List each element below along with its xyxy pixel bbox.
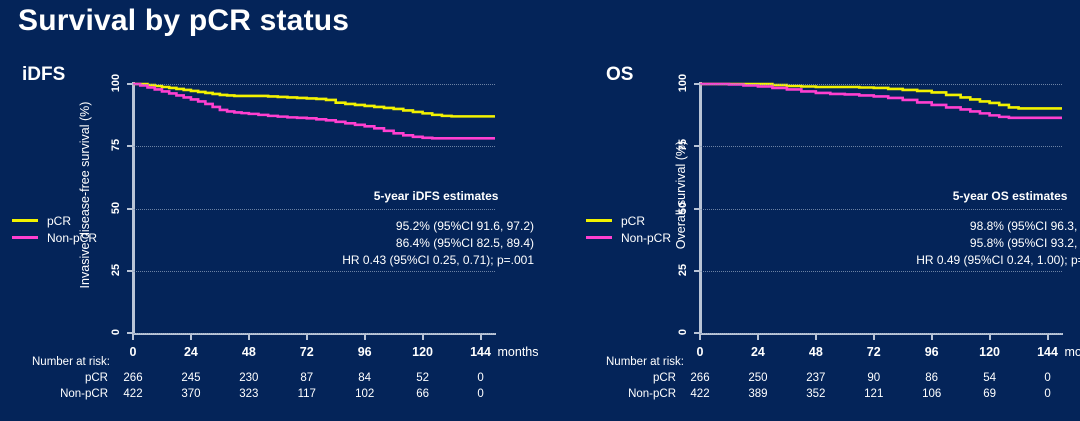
legend-item-pcr: pCR	[12, 212, 97, 229]
risk-row-value: 121	[854, 388, 894, 400]
x-tick-label: 144	[459, 345, 503, 359]
x-tick-mark	[364, 334, 366, 340]
risk-row-label: Non-pCR	[588, 388, 676, 400]
gridline	[133, 84, 495, 85]
risk-row-value: 266	[680, 372, 720, 384]
x-tick-label: 0	[678, 345, 722, 359]
y-tick-label: 0	[677, 322, 689, 342]
gridline	[700, 333, 1062, 334]
legend-swatch-nonpcr	[586, 236, 612, 240]
legend-idfs: pCR Non-pCR	[12, 212, 97, 246]
legend-os: pCR Non-pCR	[586, 212, 671, 246]
estimates-heading: 5-year iDFS estimates	[342, 188, 534, 205]
y-tick-mark	[127, 270, 133, 272]
risk-row-value: 0	[1028, 388, 1068, 400]
x-tick-label: 24	[736, 345, 780, 359]
x-tick-mark	[132, 334, 134, 340]
risk-row-value: 389	[738, 388, 778, 400]
legend-item-pcr: pCR	[586, 212, 671, 229]
x-tick-mark	[248, 334, 250, 340]
gridline	[133, 146, 495, 147]
risk-row-value: 0	[461, 388, 501, 400]
x-tick-mark	[815, 334, 817, 340]
y-axis-title-idfs: Invasive disease-free survival (%)	[78, 80, 92, 310]
risk-row-value: 106	[912, 388, 952, 400]
risk-row-value: 0	[461, 372, 501, 384]
legend-item-nonpcr: Non-pCR	[586, 229, 671, 246]
risk-row-value: 52	[403, 372, 443, 384]
estimates-block-os: 5-year OS estimates 98.8% (95%CI 96.3, 9…	[916, 188, 1080, 269]
y-tick-mark	[127, 83, 133, 85]
risk-table-row: pCR2662502379086540	[574, 372, 1080, 388]
risk-table-row: Non-pCR422370323117102660	[0, 388, 540, 404]
slide-root: { "title": "Survival by pCR status", "th…	[0, 0, 1080, 421]
risk-row-value: 245	[171, 372, 211, 384]
x-tick-mark	[931, 334, 933, 340]
risk-row-value: 352	[796, 388, 836, 400]
y-tick-mark	[127, 145, 133, 147]
risk-row-value: 230	[229, 372, 269, 384]
x-tick-label: 72	[852, 345, 896, 359]
x-tick-label: 120	[401, 345, 445, 359]
y-tick-label: 25	[677, 260, 689, 280]
legend-label-pcr: pCR	[621, 214, 645, 228]
estimate-pcr: 98.8% (95%CI 96.3, 99.6)	[916, 218, 1080, 235]
x-tick-mark	[422, 334, 424, 340]
y-tick-mark	[694, 270, 700, 272]
legend-label-nonpcr: Non-pCR	[47, 231, 97, 245]
legend-item-nonpcr: Non-pCR	[12, 229, 97, 246]
estimate-nonpcr: 86.4% (95%CI 82.5, 89.4)	[342, 235, 534, 252]
x-tick-mark	[190, 334, 192, 340]
hazard-ratio: HR 0.43 (95%CI 0.25, 0.71); p=.001	[342, 252, 534, 269]
x-tick-label: 48	[794, 345, 838, 359]
risk-row-value: 323	[229, 388, 269, 400]
risk-row-value: 90	[854, 372, 894, 384]
risk-row-value: 117	[287, 388, 327, 400]
x-tick-label: 144	[1026, 345, 1070, 359]
estimates-heading: 5-year OS estimates	[916, 188, 1080, 205]
panel-label-idfs: iDFS	[22, 64, 65, 86]
chart-panel-os: OS Overall survival (%) 0255075100024487…	[574, 60, 1080, 421]
survival-curve-pcr	[133, 84, 495, 116]
legend-swatch-nonpcr	[12, 236, 38, 240]
risk-row-value: 102	[345, 388, 385, 400]
y-tick-mark	[694, 83, 700, 85]
x-tick-label: 24	[169, 345, 213, 359]
x-tick-mark	[1047, 334, 1049, 340]
legend-label-nonpcr: Non-pCR	[621, 231, 671, 245]
risk-row-value: 86	[912, 372, 952, 384]
gridline	[700, 271, 1062, 272]
estimates-block-idfs: 5-year iDFS estimates 95.2% (95%CI 91.6,…	[342, 188, 534, 269]
risk-row-value: 370	[171, 388, 211, 400]
risk-row-value: 250	[738, 372, 778, 384]
risk-row-value: 84	[345, 372, 385, 384]
risk-row-value: 66	[403, 388, 443, 400]
risk-row-value: 237	[796, 372, 836, 384]
x-tick-label: 48	[227, 345, 271, 359]
risk-row-value: 54	[970, 372, 1010, 384]
risk-row-value: 0	[1028, 372, 1068, 384]
y-tick-label: 75	[677, 135, 689, 155]
y-tick-label: 50	[677, 198, 689, 218]
y-tick-label: 100	[677, 73, 689, 93]
y-tick-mark	[694, 145, 700, 147]
x-axis-unit-label: months	[498, 345, 539, 359]
gridline	[700, 84, 1062, 85]
estimate-pcr: 95.2% (95%CI 91.6, 97.2)	[342, 218, 534, 235]
x-tick-mark	[873, 334, 875, 340]
x-tick-mark	[306, 334, 308, 340]
panel-label-os: OS	[606, 64, 633, 86]
x-tick-mark	[699, 334, 701, 340]
legend-swatch-pcr	[586, 219, 612, 223]
risk-table-row: pCR2662452308784520	[0, 372, 540, 388]
y-tick-label: 50	[110, 198, 122, 218]
risk-row-value: 266	[113, 372, 153, 384]
x-tick-mark	[989, 334, 991, 340]
y-tick-mark	[127, 208, 133, 210]
y-tick-label: 100	[110, 73, 122, 93]
risk-table-title: Number at risk:	[32, 356, 110, 368]
estimate-nonpcr: 95.8% (95%CI 93.2, 97.4)	[916, 235, 1080, 252]
risk-row-value: 422	[113, 388, 153, 400]
risk-row-label: Non-pCR	[20, 388, 108, 400]
x-tick-mark	[757, 334, 759, 340]
legend-swatch-pcr	[12, 219, 38, 223]
legend-label-pcr: pCR	[47, 214, 71, 228]
page-title: Survival by pCR status	[18, 4, 349, 38]
risk-row-value: 422	[680, 388, 720, 400]
risk-table-title: Number at risk:	[606, 356, 684, 368]
risk-row-value: 69	[970, 388, 1010, 400]
gridline	[133, 333, 495, 334]
x-tick-label: 96	[343, 345, 387, 359]
risk-row-label: pCR	[588, 372, 676, 384]
y-tick-label: 0	[110, 322, 122, 342]
y-tick-label: 75	[110, 135, 122, 155]
risk-row-label: pCR	[20, 372, 108, 384]
chart-panel-idfs: iDFS Invasive disease-free survival (%) …	[0, 60, 540, 421]
y-tick-label: 25	[110, 260, 122, 280]
x-tick-mark	[480, 334, 482, 340]
risk-table-row: Non-pCR422389352121106690	[574, 388, 1080, 404]
x-tick-label: 120	[968, 345, 1012, 359]
survival-curve-nonpcr	[133, 84, 495, 138]
gridline	[133, 271, 495, 272]
hazard-ratio: HR 0.49 (95%CI 0.24, 1.00); p=.052	[916, 252, 1080, 269]
x-axis-unit-label: months	[1065, 345, 1080, 359]
risk-row-value: 87	[287, 372, 327, 384]
x-tick-label: 96	[910, 345, 954, 359]
y-tick-mark	[694, 208, 700, 210]
gridline	[700, 146, 1062, 147]
x-tick-label: 72	[285, 345, 329, 359]
x-tick-label: 0	[111, 345, 155, 359]
